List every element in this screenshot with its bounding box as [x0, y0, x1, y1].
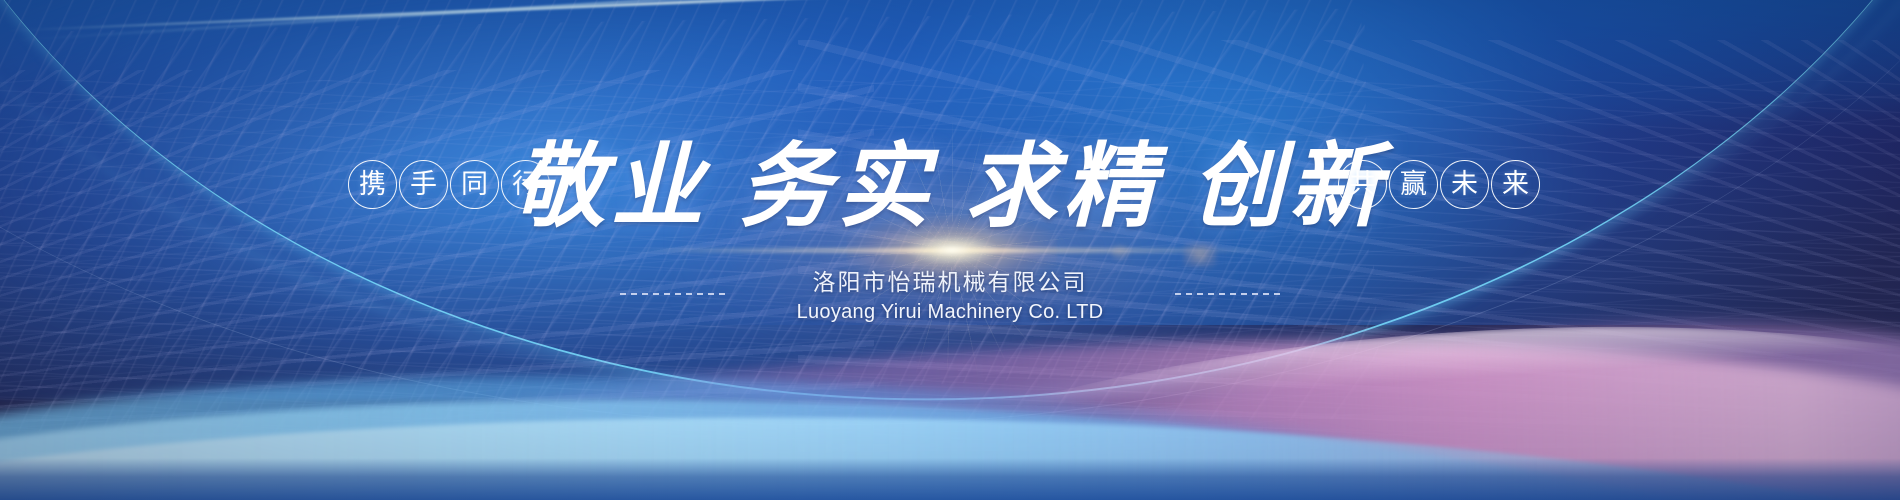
- company-text-group: 洛阳市怡瑞机械有限公司 Luoyang Yirui Machinery Co. …: [797, 268, 1104, 326]
- banner-content: 携 手 同 行 敬业务实求精创新 共 赢 未 来 洛阳市怡瑞机械有限公司 Luo…: [0, 0, 1900, 500]
- slogan-word-wushi: 务实: [739, 132, 935, 240]
- circled-char-gong: 共: [1338, 160, 1387, 209]
- circled-char-lai: 来: [1491, 160, 1540, 209]
- circled-char-ying: 赢: [1389, 160, 1438, 209]
- dashed-rule-right: [1175, 293, 1280, 295]
- company-name-en: Luoyang Yirui Machinery Co. LTD: [797, 298, 1104, 326]
- circled-phrase-right: 共 赢 未 来: [1338, 160, 1540, 209]
- company-name-block: 洛阳市怡瑞机械有限公司 Luoyang Yirui Machinery Co. …: [0, 268, 1900, 326]
- main-slogan: 敬业务实求精创新: [0, 140, 1900, 232]
- dashed-rule-left: [620, 293, 725, 295]
- slogan-word-jingye: 敬业: [513, 132, 709, 240]
- slogan-word-qiujing: 求精: [965, 132, 1161, 240]
- hero-banner: 携 手 同 行 敬业务实求精创新 共 赢 未 来 洛阳市怡瑞机械有限公司 Luo…: [0, 0, 1900, 500]
- company-name-cn: 洛阳市怡瑞机械有限公司: [797, 268, 1104, 298]
- circled-char-wei: 未: [1440, 160, 1489, 209]
